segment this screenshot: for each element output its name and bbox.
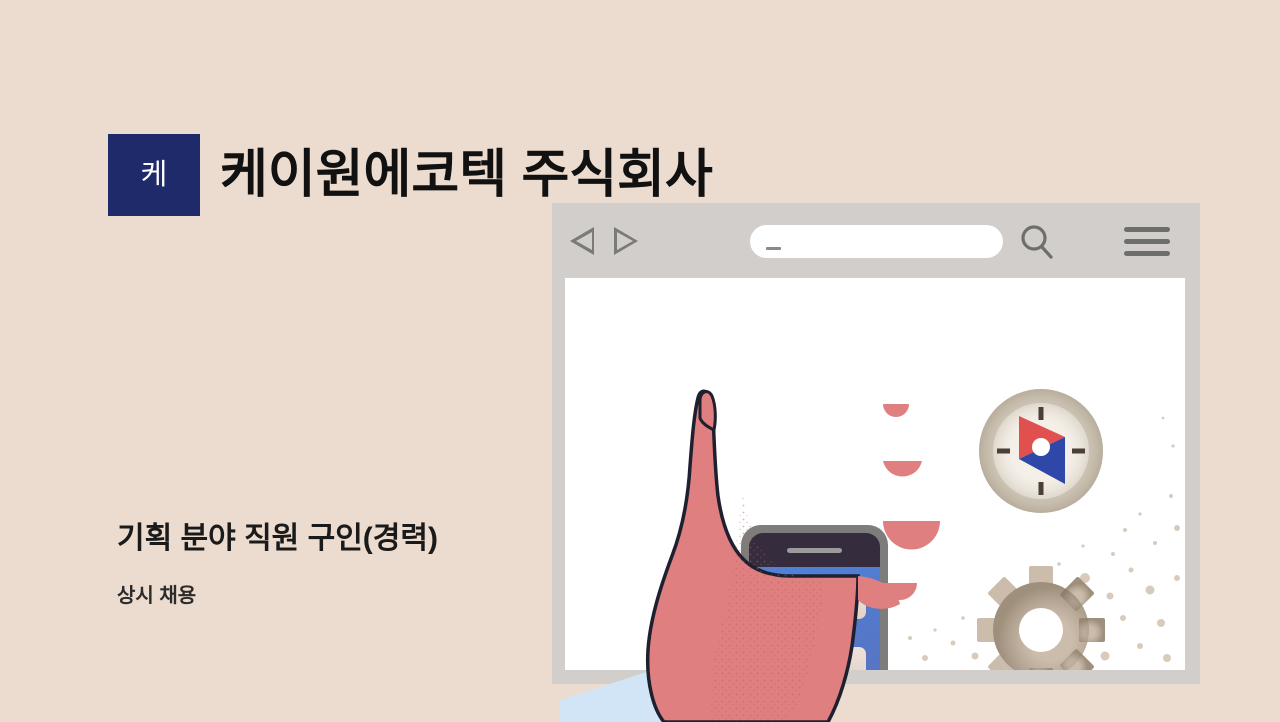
- banner-stage: 케 케이원에코텍 주식회사 기획 분야 직원 구인(경력) 상시 채용: [0, 0, 1280, 722]
- smartphone-illustration: [741, 525, 888, 670]
- compass-icon: [977, 387, 1105, 515]
- browser-nav-arrows: [570, 227, 640, 255]
- back-arrow-icon[interactable]: [570, 227, 596, 255]
- company-logo-text: 케: [141, 161, 168, 190]
- phone-body: [749, 533, 880, 670]
- menu-bar-bottom: [1124, 251, 1170, 256]
- job-title: 기획 분야 직원 구인(경력): [117, 522, 438, 555]
- menu-bar-top: [1124, 227, 1170, 232]
- company-logo: 케: [108, 134, 200, 216]
- job-recruitment-type: 상시 채용: [117, 585, 196, 607]
- company-name: 케이원에코텍 주식회사: [220, 149, 713, 201]
- browser-canvas: [565, 278, 1185, 670]
- chat-bubble: [763, 585, 866, 619]
- menu-bar-middle: [1124, 239, 1170, 244]
- browser-toolbar: [552, 203, 1200, 278]
- phone-speaker: [787, 548, 842, 553]
- phone-screen: [749, 567, 880, 670]
- forward-arrow-icon[interactable]: [614, 227, 640, 255]
- search-icon[interactable]: [1018, 223, 1056, 261]
- browser-mockup: [552, 203, 1200, 684]
- gear-icon: [975, 564, 1107, 670]
- hamburger-menu-icon[interactable]: [1124, 227, 1170, 257]
- text-cursor-icon: [766, 247, 781, 250]
- bubble-texture: [763, 647, 866, 670]
- address-bar-input[interactable]: [750, 225, 1003, 258]
- bubble-texture: [763, 585, 866, 619]
- chat-bubble: [763, 647, 866, 670]
